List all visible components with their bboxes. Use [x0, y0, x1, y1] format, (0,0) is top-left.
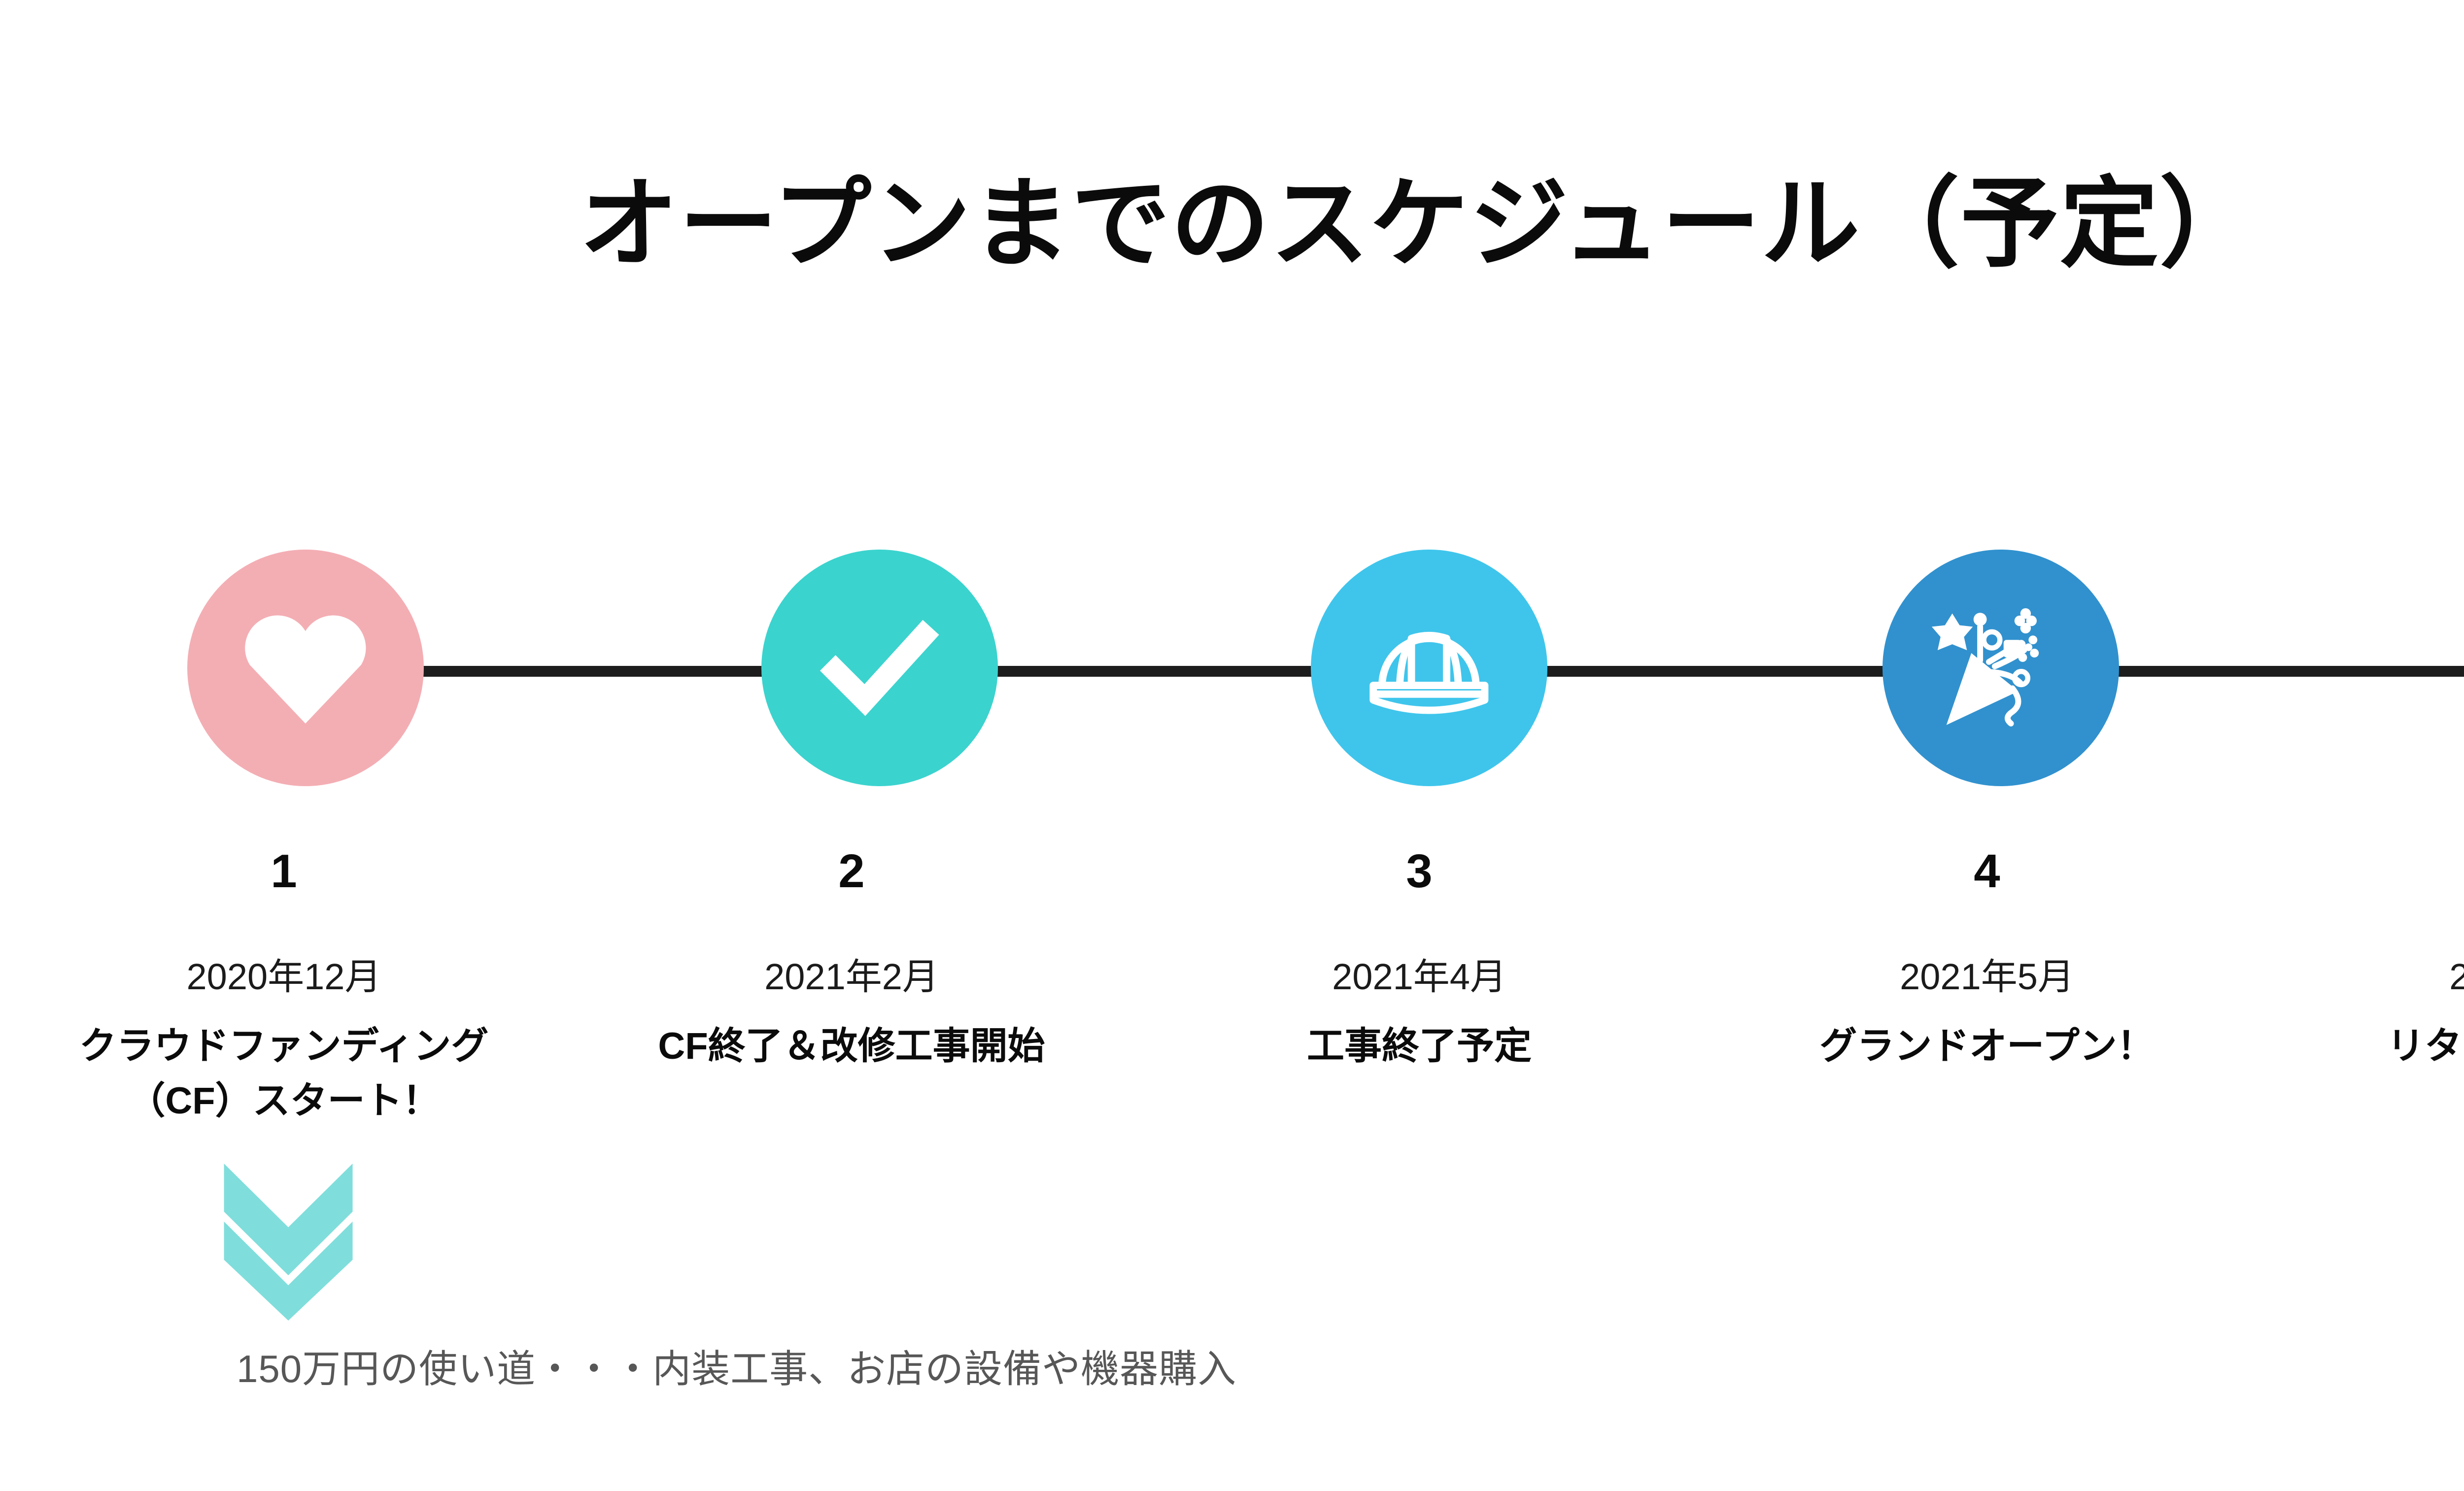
- step-4-date: 2021年5月: [1708, 957, 2266, 997]
- step-4-circle[interactable]: [1882, 550, 2119, 786]
- timeline-step-labels: 1 2020年12月 クラウドファンディング （CF）スタート！ 2 2021年…: [0, 848, 2464, 1128]
- timeline-node-2[interactable]: [756, 545, 1003, 791]
- step-1-circle[interactable]: [187, 550, 424, 786]
- step-4-label: グランドオープン！: [1708, 1019, 2266, 1074]
- step-3-date: 2021年4月: [1140, 957, 1698, 997]
- step-5-label: リターン品発送開始: [2276, 1019, 2464, 1074]
- party-popper-icon: [1927, 594, 2074, 741]
- page-title: オープンまでのスケジュール（予定）: [0, 163, 2464, 286]
- step-3-circle[interactable]: [1311, 550, 1547, 786]
- step-2-date: 2021年2月: [573, 957, 1130, 997]
- footnote-text: 150万円の使い道・・・内装工事、お店の設備や機器購入: [237, 1338, 1715, 1393]
- step-column-1: 1 2020年12月 クラウドファンディング （CF）スタート！: [0, 848, 568, 1128]
- step-column-3: 3 2021年4月 工事終了予定: [1135, 848, 1703, 1128]
- step-4-number: 4: [1708, 848, 2266, 895]
- step-column-2: 2 2021年2月 CF終了＆改修工事開始: [568, 848, 1135, 1128]
- step-1-label-line2: （CF）スタート！: [5, 1074, 563, 1128]
- step-1-date: 2020年12月: [5, 957, 563, 997]
- step-2-label: CF終了＆改修工事開始: [573, 1019, 1130, 1074]
- heart-icon: [232, 594, 379, 741]
- step-3-number: 3: [1140, 848, 1698, 895]
- step-2-circle[interactable]: [761, 550, 998, 786]
- step-5-number: 5: [2276, 848, 2464, 895]
- timeline-node-1[interactable]: [182, 545, 429, 791]
- step-1-number: 1: [5, 848, 563, 895]
- step-2-number: 2: [573, 848, 1130, 895]
- timeline-node-5[interactable]: [2462, 545, 2464, 791]
- step-column-4: 4 2021年5月 グランドオープン！: [1703, 848, 2271, 1128]
- step-5-date: 2021年6月〜: [2276, 957, 2464, 997]
- step-1-label: クラウドファンディング （CF）スタート！: [5, 1019, 563, 1128]
- step-column-5: 5 2021年6月〜 リターン品発送開始: [2271, 848, 2464, 1128]
- hard-hat-icon: [1356, 594, 1503, 741]
- timeline: [0, 545, 2464, 801]
- step-3-label: 工事終了予定: [1140, 1019, 1698, 1074]
- timeline-node-3[interactable]: [1306, 545, 1552, 791]
- double-chevron-down-icon: [217, 1161, 360, 1323]
- timeline-node-4[interactable]: [1878, 545, 2124, 791]
- step-1-label-line1: クラウドファンディング: [79, 1025, 489, 1067]
- check-icon: [806, 594, 953, 741]
